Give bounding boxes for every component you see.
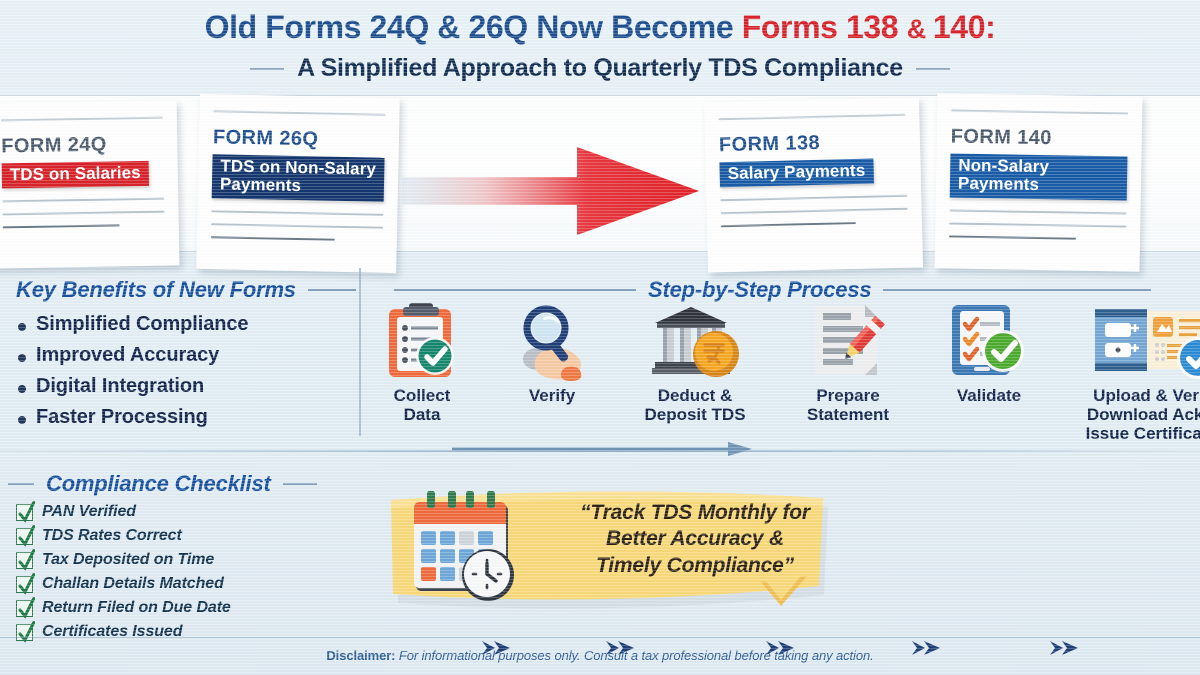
form-card-name: FORM 26Q <box>213 126 385 153</box>
header: Old Forms 24Q & 26Q Now Become Forms 138… <box>0 10 1200 83</box>
paper-body-lines <box>211 210 384 242</box>
checklist-label: Return Filed on Due Date <box>42 599 231 617</box>
middle-vertical-divider <box>359 268 361 436</box>
benefit-label: Digital Integration <box>36 375 204 398</box>
list-item: Simplified Compliance <box>18 313 248 336</box>
title-part-new-a: Forms 138 <box>742 9 907 45</box>
disclaimer: Disclaimer: For informational purposes o… <box>0 648 1200 663</box>
upload-certificate-icon <box>1066 300 1200 382</box>
process-step-collect-data[interactable]: CollectData <box>366 300 478 424</box>
process-step-deduct-deposit[interactable]: Deduct &Deposit TDS <box>624 300 766 424</box>
benefits-heading-group: Key Benefits of New Forms <box>16 277 356 303</box>
subtitle-dash-right <box>916 68 950 70</box>
checkbox-checked-icon[interactable] <box>16 576 33 593</box>
process-step-validate[interactable]: Validate <box>930 300 1048 405</box>
paper-top-line <box>718 114 905 121</box>
bank-rupee-coin-icon <box>624 300 766 382</box>
process-heading-rule-right <box>883 289 1151 291</box>
form-card-24q[interactable]: FORM 24Q TDS on Salaries <box>0 100 179 268</box>
subtitle-dash-left <box>250 68 284 70</box>
tip-quote: “Track TDS Monthly for Better Accuracy &… <box>545 500 845 579</box>
disclaimer-label: Disclaimer: <box>326 648 395 663</box>
process-step-label: Validate <box>930 386 1048 405</box>
bullet-icon <box>18 416 26 424</box>
calendar-clock-icon <box>408 489 528 604</box>
process-heading-rule-left <box>394 289 636 291</box>
checklist-label: TDS Rates Correct <box>42 527 182 545</box>
process-steps: CollectData Verify <box>366 300 1186 450</box>
list-item[interactable]: PAN Verified <box>16 500 231 524</box>
process-step-verify[interactable]: Verify <box>500 300 604 405</box>
list-item: Digital Integration <box>18 375 248 398</box>
page-subtitle: A Simplified Approach to Quarterly TDS C… <box>297 54 903 83</box>
list-item[interactable]: TDS Rates Correct <box>16 524 231 548</box>
form-card-138[interactable]: FORM 138 Salary Payments <box>704 97 923 272</box>
benefits-heading-rule <box>308 289 356 291</box>
compliance-checklist: PAN Verified TDS Rates Correct Tax Depos… <box>16 500 231 644</box>
list-item: Improved Accuracy <box>18 344 248 367</box>
bullet-icon <box>18 323 26 331</box>
form-card-tag: TDS on Salaries <box>2 161 149 189</box>
form-card-tag: Non-Salary Payments <box>950 153 1128 200</box>
bullet-icon <box>18 385 26 393</box>
page-title: Old Forms 24Q & 26Q Now Become Forms 138… <box>0 10 1200 45</box>
checkbox-checked-icon[interactable] <box>16 552 33 569</box>
checklist-heading-group: Compliance Checklist <box>8 471 317 497</box>
list-item[interactable]: Certificates Issued <box>16 620 231 644</box>
process-step-label: Deduct &Deposit TDS <box>624 386 766 424</box>
title-part-old: Old Forms 24Q & 26Q Now Become <box>205 9 742 45</box>
clipboard-check-icon <box>366 300 478 382</box>
checklist-approved-icon <box>930 300 1048 382</box>
disclaimer-divider <box>0 637 1200 638</box>
paper-top-line <box>213 110 385 116</box>
checklist-label: Challan Details Matched <box>42 575 224 593</box>
tip-line-3: Timely Compliance” <box>545 553 845 579</box>
checklist-label: Certificates Issued <box>42 623 182 641</box>
form-card-name: FORM 140 <box>951 125 1128 151</box>
infographic-canvas: Old Forms 24Q & 26Q Now Become Forms 138… <box>0 0 1200 675</box>
list-item: Faster Processing <box>18 406 248 429</box>
checklist-heading-rule-left <box>8 483 34 485</box>
paper-body-lines <box>949 209 1126 240</box>
paper-top-line <box>1 117 163 122</box>
paper-top-line <box>951 109 1128 114</box>
checklist-label: PAN Verified <box>42 503 136 521</box>
benefit-label: Faster Processing <box>36 406 208 429</box>
benefit-label: Simplified Compliance <box>36 313 248 336</box>
list-item[interactable]: Tax Deposited on Time <box>16 548 231 572</box>
benefits-list: Simplified Compliance Improved Accuracy … <box>18 313 248 437</box>
process-step-label: Upload & Verify Download Ack. & Issue Ce… <box>1066 386 1200 443</box>
process-step-label: CollectData <box>366 386 478 424</box>
form-card-name: FORM 24Q <box>1 133 163 159</box>
form-card-tag: TDS on Non-Salary Payments <box>212 154 385 201</box>
checklist-label: Tax Deposited on Time <box>42 551 214 569</box>
list-item[interactable]: Return Filed on Due Date <box>16 596 231 620</box>
process-flow-arrow-icon <box>452 440 752 458</box>
checkbox-checked-icon[interactable] <box>16 504 33 521</box>
form-card-140[interactable]: FORM 140 Non-Salary Payments <box>934 93 1142 272</box>
tip-line-1: “Track TDS Monthly for <box>545 500 845 526</box>
disclaimer-text: For informational purposes only. Consult… <box>395 648 873 663</box>
checkbox-checked-icon[interactable] <box>16 528 33 545</box>
form-card-tag: Salary Payments <box>719 159 873 188</box>
title-part-new-b: 140: <box>933 9 995 45</box>
checklist-section-divider <box>0 450 1200 452</box>
benefits-heading: Key Benefits of New Forms <box>16 277 296 303</box>
process-step-label: Verify <box>500 386 604 405</box>
process-step-prepare-statement[interactable]: PrepareStatement <box>786 300 910 424</box>
tip-line-2: Better Accuracy & <box>545 526 845 552</box>
bullet-icon <box>18 354 26 362</box>
checklist-heading: Compliance Checklist <box>46 471 271 497</box>
document-pencil-icon <box>786 300 910 382</box>
benefit-label: Improved Accuracy <box>36 344 219 367</box>
title-ampersand: & <box>907 14 933 44</box>
paper-body-lines <box>2 198 164 229</box>
process-step-upload-verify[interactable]: Upload & Verify Download Ack. & Issue Ce… <box>1066 300 1200 443</box>
paper-body-lines <box>720 195 908 228</box>
magnifier-hand-icon <box>500 300 604 382</box>
process-step-label: PrepareStatement <box>786 386 910 424</box>
checkbox-checked-icon[interactable] <box>16 600 33 617</box>
form-card-name: FORM 138 <box>719 130 907 158</box>
right-arrow-icon <box>402 145 699 237</box>
checklist-heading-rule-right <box>283 483 317 485</box>
list-item[interactable]: Challan Details Matched <box>16 572 231 596</box>
form-card-26q[interactable]: FORM 26Q TDS on Non-Salary Payments <box>196 94 400 273</box>
